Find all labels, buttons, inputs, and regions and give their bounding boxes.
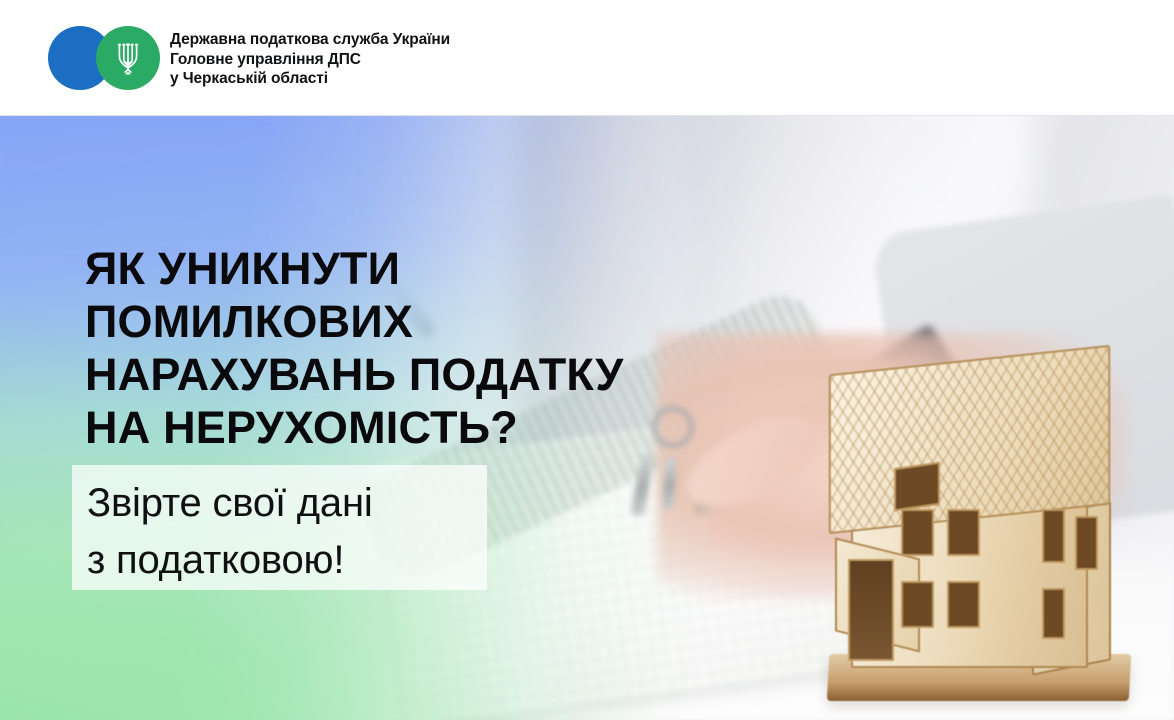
banner-copy: ЯК УНИКНУТИ ПОМИЛКОВИХ НАРАХУВАНЬ ПОДАТК… [0, 116, 1174, 720]
org-line-3: у Черкаській області [170, 69, 450, 89]
green-circle-icon [96, 26, 160, 90]
header-divider [0, 115, 1174, 116]
headline-line-4: НА НЕРУХОМІСТЬ? [85, 401, 623, 454]
headline: ЯК УНИКНУТИ ПОМИЛКОВИХ НАРАХУВАНЬ ПОДАТК… [85, 242, 623, 454]
org-line-2: Головне управління ДПС [170, 50, 450, 70]
tax-service-banner: Державна податкова служба України Головн… [0, 0, 1174, 720]
organization-name: Державна податкова служба України Головн… [170, 26, 450, 89]
header-bar: Державна податкова служба України Головн… [0, 0, 1174, 116]
subtitle: Звірте свої дані з податковою! [87, 475, 487, 589]
banner-stage: ЯК УНИКНУТИ ПОМИЛКОВИХ НАРАХУВАНЬ ПОДАТК… [0, 116, 1174, 720]
subtitle-line-2: з податковою! [87, 532, 487, 589]
header-logo-block: Державна податкова служба України Головн… [48, 26, 450, 90]
headline-line-2: ПОМИЛКОВИХ [85, 295, 623, 348]
headline-line-1: ЯК УНИКНУТИ [85, 242, 623, 295]
logo-marks [48, 26, 160, 90]
ukraine-trident-icon [113, 39, 143, 77]
headline-line-3: НАРАХУВАНЬ ПОДАТКУ [85, 348, 623, 401]
org-line-1: Державна податкова служба України [170, 30, 450, 50]
subtitle-line-1: Звірте свої дані [87, 475, 487, 532]
